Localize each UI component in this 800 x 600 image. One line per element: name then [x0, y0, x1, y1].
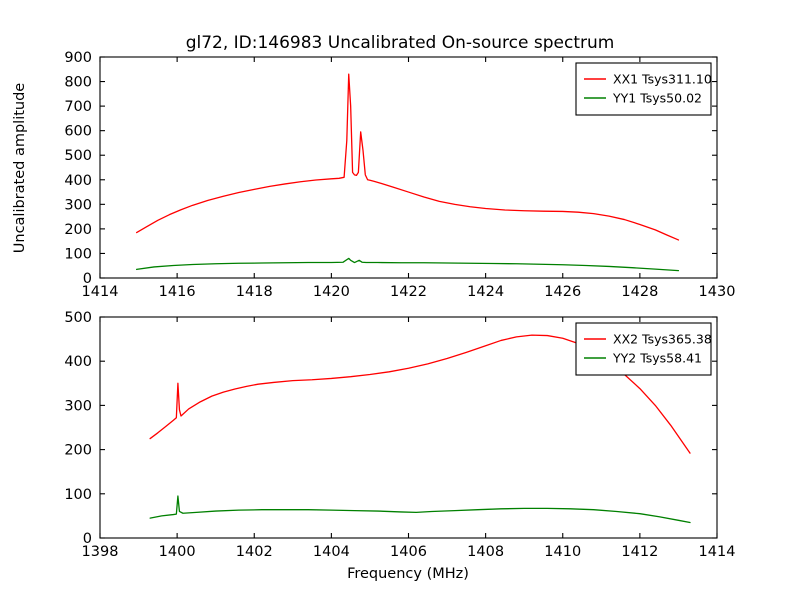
x-tick-label: 1414 — [699, 544, 736, 560]
y-tick-label: 200 — [64, 443, 92, 459]
y-tick-label: 0 — [83, 531, 92, 547]
x-tick-label: 1418 — [236, 284, 273, 300]
x-tick-label: 1404 — [313, 544, 350, 560]
x-tick-label: 1428 — [621, 284, 658, 300]
y-tick-label: 0 — [83, 271, 92, 287]
y-tick-label: 100 — [64, 246, 92, 262]
x-tick-label: 1406 — [390, 544, 427, 560]
legend-top: XX1 Tsys311.10YY1 Tsys50.02 — [576, 63, 712, 115]
y-tick-label: 400 — [64, 173, 92, 189]
legend-label: YY1 Tsys50.02 — [612, 91, 702, 106]
x-tick-label: 1430 — [699, 284, 736, 300]
y-tick-label: 500 — [64, 148, 92, 164]
x-tick-label: 1402 — [236, 544, 273, 560]
y-axis-label-top: Uncalibrated amplitude — [12, 83, 28, 254]
legend-label: XX2 Tsys365.38 — [613, 332, 712, 347]
x-tick-label: 1426 — [544, 284, 581, 300]
spectrum-figure: gl72, ID:146983 Uncalibrated On-source s… — [0, 0, 800, 600]
y-tick-label: 700 — [64, 99, 92, 115]
x-tick-label: 1424 — [467, 284, 504, 300]
x-tick-label: 1408 — [467, 544, 504, 560]
x-tick-label: 1412 — [621, 544, 658, 560]
legend-label: YY2 Tsys58.41 — [612, 351, 702, 366]
y-tick-label: 900 — [64, 50, 92, 66]
legend-label: XX1 Tsys311.10 — [613, 72, 712, 87]
x-axis-label-bottom: Frequency (MHz) — [347, 566, 469, 582]
y-tick-label: 300 — [64, 197, 92, 213]
y-tick-label: 800 — [64, 75, 92, 91]
x-tick-label: 1420 — [313, 284, 350, 300]
y-tick-label: 300 — [64, 398, 92, 414]
y-tick-label: 500 — [64, 310, 92, 326]
x-tick-label: 1416 — [159, 284, 196, 300]
y-tick-label: 100 — [64, 487, 92, 503]
y-tick-label: 600 — [64, 124, 92, 140]
y-tick-label: 200 — [64, 222, 92, 238]
x-tick-label: 1400 — [159, 544, 196, 560]
legend-bottom: XX2 Tsys365.38YY2 Tsys58.41 — [576, 323, 712, 375]
x-tick-label: 1422 — [390, 284, 427, 300]
y-tick-label: 400 — [64, 354, 92, 370]
page-title: gl72, ID:146983 Uncalibrated On-source s… — [186, 33, 615, 53]
spectrum-plot-canvas: gl72, ID:146983 Uncalibrated On-source s… — [0, 0, 800, 600]
x-tick-label: 1410 — [544, 544, 581, 560]
